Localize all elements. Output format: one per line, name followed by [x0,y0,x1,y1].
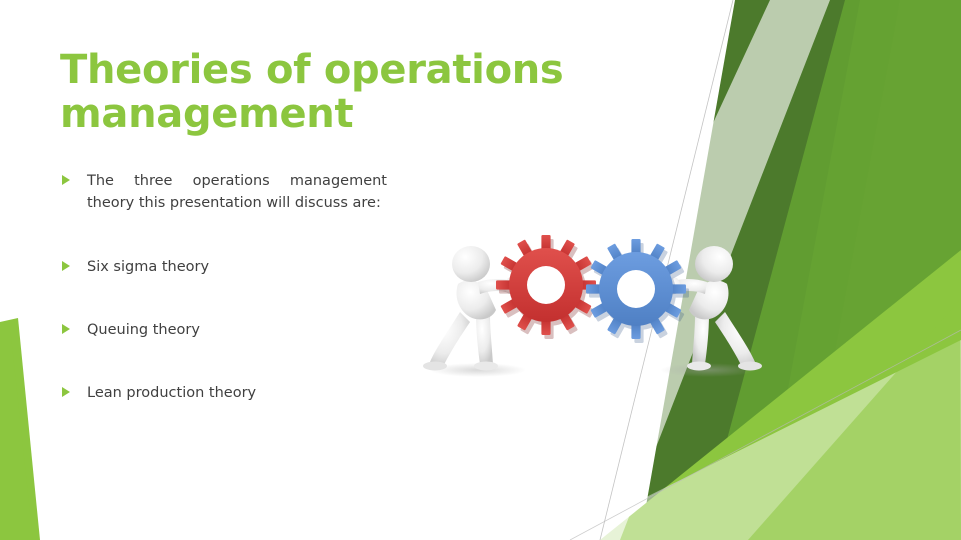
deco-shape-left-wedge [0,318,40,540]
deco-shape-pale-green-bottom [748,300,961,540]
gears-teamwork-image [420,222,765,382]
list-item-label: Six sigma theory [87,259,209,275]
page-title: Theories of operations management [60,48,620,136]
head-right [695,246,733,282]
spacer [57,341,387,382]
list-item: The three operations management theory t… [57,170,387,214]
triangle-bullet-icon [62,324,70,334]
list-item: Six sigma theory [57,256,387,278]
triangle-bullet-icon [62,261,70,271]
spacer [57,278,387,319]
bullet-list: The three operations management theory t… [57,170,387,404]
list-item: Queuing theory [57,319,387,341]
spacer [57,214,387,256]
list-item-label: The three operations management theory t… [87,170,387,214]
deco-shape-lime-right [840,0,961,540]
gear-red-icon [496,235,599,339]
list-item: Lean production theory [57,382,387,404]
gear-blue-icon [586,239,689,343]
list-item-label: Queuing theory [87,322,200,338]
presentation-slide: Theories of operations management The th… [0,0,961,540]
triangle-bullet-icon [62,175,70,185]
list-item-label: Lean production theory [87,385,256,401]
deco-shape-lime-right-2 [790,0,961,540]
deco-shape-left-wedge-2 [0,326,33,540]
head-left [452,246,490,282]
triangle-bullet-icon [62,387,70,397]
